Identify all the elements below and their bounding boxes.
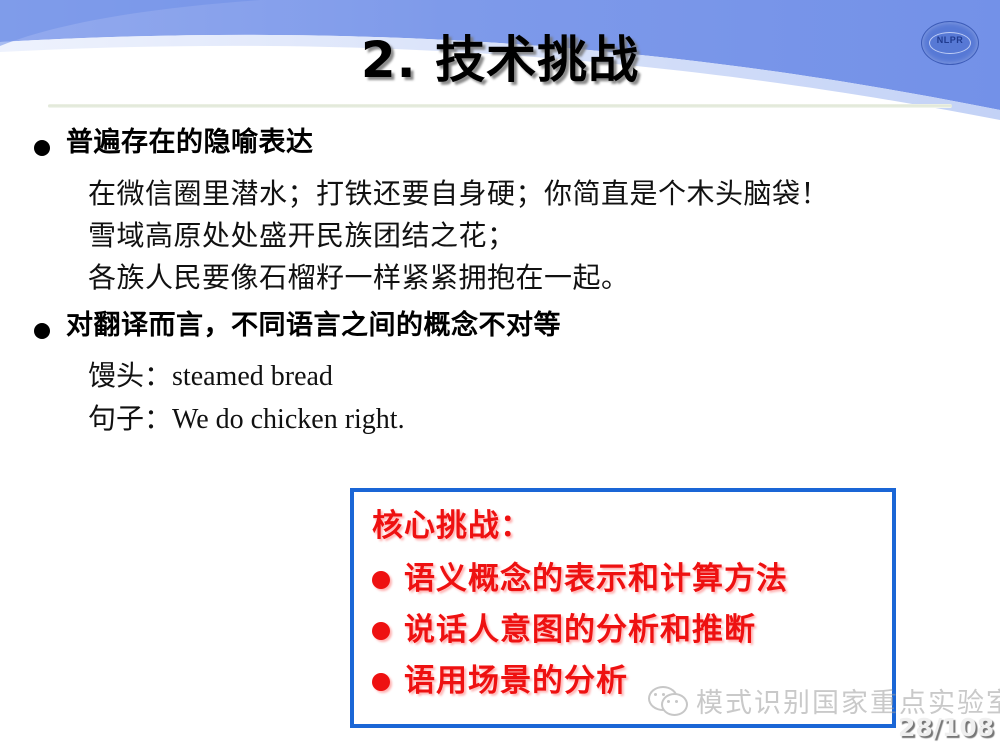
callout-item-text-2: 说话人意图的分析和推断 [404, 607, 756, 654]
translation-example-row-1: 馒头：steamed bread [0, 355, 1000, 398]
core-challenges-callout-box: 核心挑战： 语义概念的表示和计算方法 说话人意图的分析和推断 语用场景的分析 [350, 488, 896, 728]
bullet-dot-icon [34, 140, 50, 156]
metaphor-example-line-1: 在微信圈里潜水；打铁还要自身硬；你简直是个木头脑袋！ [0, 173, 1000, 215]
page-number: 28/108 [898, 713, 994, 742]
callout-item-text-3: 语用场景的分析 [404, 658, 628, 705]
bullet-dot-icon [34, 323, 50, 339]
bullet-label-translation: 对翻译而言，不同语言之间的概念不对等 [66, 309, 561, 344]
callout-bullet-dot-icon [372, 673, 390, 691]
title-divider [48, 104, 952, 108]
callout-bullet-dot-icon [372, 622, 390, 640]
callout-list: 语义概念的表示和计算方法 说话人意图的分析和推断 语用场景的分析 [372, 556, 886, 709]
callout-item-text-1: 语义概念的表示和计算方法 [404, 556, 788, 603]
translation-example-row-2: 句子：We do chicken right. [0, 398, 1000, 441]
translation-example-value-2: We do chicken right. [172, 404, 405, 435]
callout-list-item: 说话人意图的分析和推断 [372, 607, 886, 654]
metaphor-example-line-2: 雪域高原处处盛开民族团结之花； [0, 215, 1000, 257]
translation-example-label-2: 句子： [88, 402, 172, 435]
translation-example-value-1: steamed bread [172, 361, 333, 392]
translation-example-label-1: 馒头： [88, 359, 172, 392]
bullet-item-translation: 对翻译而言，不同语言之间的概念不对等 [0, 309, 1000, 344]
page-title: 2. 技术挑战 [0, 20, 1000, 92]
metaphor-example-line-3: 各族人民要像石榴籽一样紧紧拥抱在一起。 [0, 257, 1000, 299]
callout-list-item: 语用场景的分析 [372, 658, 886, 705]
slide-body: 普遍存在的隐喻表达 在微信圈里潜水；打铁还要自身硬；你简直是个木头脑袋！ 雪域高… [0, 126, 1000, 441]
bullet-item-metaphor: 普遍存在的隐喻表达 [0, 126, 1000, 161]
bullet-label-metaphor: 普遍存在的隐喻表达 [66, 126, 314, 161]
callout-title: 核心挑战： [372, 500, 532, 545]
callout-list-item: 语义概念的表示和计算方法 [372, 556, 886, 603]
slide-canvas: NLPR 2. 技术挑战 普遍存在的隐喻表达 在微信圈里潜水；打铁还要自身硬；你… [0, 0, 1000, 750]
callout-bullet-dot-icon [372, 571, 390, 589]
